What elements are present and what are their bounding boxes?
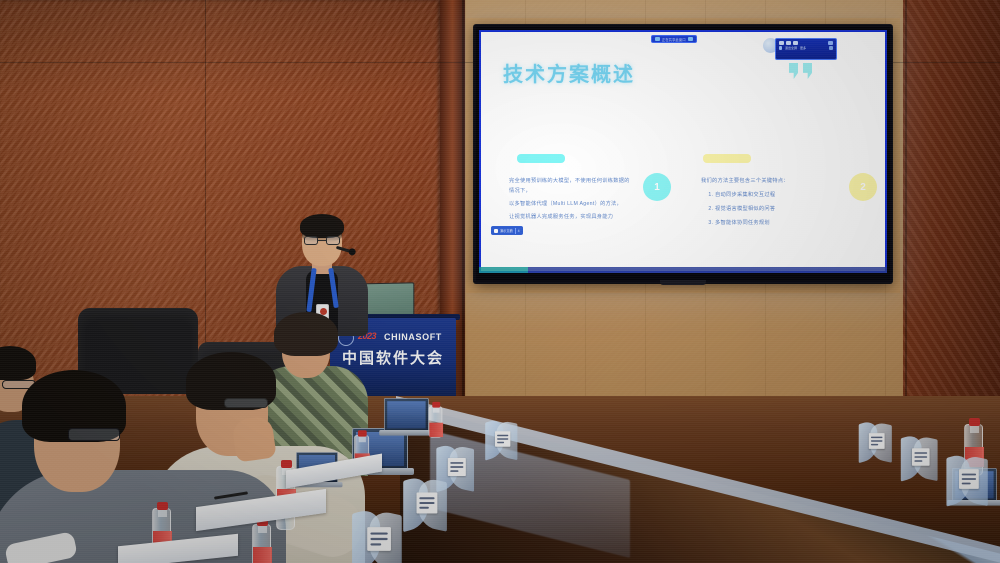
attendee-gray-glasses-icon — [68, 428, 120, 441]
glasses-icon — [304, 236, 340, 245]
placard-card-5 — [869, 433, 885, 449]
left-paragraph-3: 让视觉机器人完成服务任务，实现具身能力 — [509, 212, 633, 222]
bottle-cap-5 — [432, 402, 440, 408]
name-placard-1 — [485, 420, 519, 458]
water-bottle-5 — [429, 406, 443, 438]
more-label[interactable]: 更多 — [800, 46, 806, 50]
display-stand — [660, 280, 706, 285]
placard-card-1 — [495, 431, 510, 446]
sharing-toolbar[interactable]: 正在共享此窗口 — [651, 35, 697, 43]
minimize-icon[interactable] — [779, 41, 784, 45]
attendee-gray-sweater — [6, 352, 276, 563]
feature-item-2: 视觉语言模型相似的问答 — [715, 204, 833, 214]
right-feature-list: 自动同步采集和交互过程 视觉语言模型相似的问答 多智能体协同任务规划 — [715, 190, 833, 228]
slides-icon — [494, 229, 498, 233]
right-badge-number: 2 — [849, 173, 877, 201]
share-icon — [655, 37, 660, 41]
wall-panel-right — [903, 0, 1000, 430]
placard-card-3 — [417, 493, 438, 514]
slide-bottom-strip — [479, 267, 887, 273]
right-accent-bar — [703, 154, 751, 163]
stop-share-icon[interactable] — [688, 37, 693, 41]
restore-icon[interactable] — [786, 41, 791, 45]
close-icon[interactable] — [828, 41, 833, 45]
slide-screen[interactable]: 技术方案概述 正在共享此窗口 退出全屏 更多 — [479, 30, 887, 273]
conference-room-photo: 技术方案概述 正在共享此窗口 退出全屏 更多 — [0, 0, 1000, 563]
wall-display: 技术方案概述 正在共享此窗口 退出全屏 更多 — [474, 25, 892, 283]
placard-card-7 — [959, 469, 979, 489]
laptop-screen-2 — [387, 401, 425, 428]
name-placard-5 — [859, 422, 894, 461]
name-placard-6 — [901, 435, 939, 478]
volume-icon[interactable] — [829, 46, 833, 50]
banner-brand: CHINASOFT — [384, 332, 442, 342]
slide-title: 技术方案概述 — [503, 58, 635, 87]
name-placard-7 — [946, 455, 989, 504]
meeting-window-toolbar[interactable]: 退出全屏 更多 — [775, 38, 837, 60]
bottle-cap-2 — [157, 502, 168, 510]
sharing-toolbar-label: 正在共享此窗口 — [662, 37, 686, 42]
quote-glyph-right — [803, 63, 812, 79]
window-actions-row[interactable]: 退出全屏 更多 — [776, 45, 836, 51]
bottle-label-5 — [429, 423, 443, 437]
slide-badge-label: 演示文稿 — [500, 228, 513, 233]
right-column-text: 我们的方法主要包含三个关键特点： 自动同步采集和交互过程 视觉语言模型相似的问答… — [701, 176, 833, 233]
left-badge-number: 1 — [643, 173, 671, 201]
mic-icon[interactable] — [779, 46, 782, 50]
water-bottle-3 — [252, 524, 271, 563]
feature-item-1: 自动同步采集和交互过程 — [715, 190, 833, 200]
slide-page-badge[interactable]: 演示文稿 4 — [491, 226, 523, 235]
bottle-cap-6 — [969, 418, 980, 426]
quote-mark-decoration — [789, 63, 812, 79]
left-paragraph-2: 以多智能体代理（Multi LLM Agent）的方法， — [509, 199, 633, 209]
bottle-label-3 — [253, 547, 272, 563]
left-paragraph-1: 完全使用预训练的大模型，不使用任何训练数据的情况下， — [509, 176, 633, 196]
quote-glyph-left — [789, 63, 798, 79]
exit-fullscreen-label[interactable]: 退出全屏 — [785, 46, 797, 50]
name-placard-3 — [403, 477, 449, 528]
bottle-cap-1 — [281, 460, 292, 468]
wall-seam-c — [462, 0, 464, 430]
maximize-icon[interactable] — [793, 41, 798, 45]
presenter-hair — [300, 214, 344, 238]
feature-item-3: 多智能体协同任务规划 — [715, 218, 833, 228]
left-column-text: 完全使用预训练的大模型，不使用任何训练数据的情况下， 以多智能体代理（Multi… — [509, 176, 633, 226]
placard-card-6 — [912, 448, 930, 466]
badge-divider — [515, 228, 516, 234]
laptop-base-2 — [379, 430, 433, 436]
left-accent-bar — [517, 154, 565, 163]
right-heading: 我们的方法主要包含三个关键特点： — [701, 176, 833, 186]
placard-card-2 — [448, 458, 466, 476]
laptop-lid-2 — [384, 398, 429, 432]
name-placard-4 — [352, 510, 404, 563]
wall-seam-b — [905, 0, 907, 430]
bottle-cap-4 — [358, 430, 367, 436]
slide-page-number: 4 — [518, 229, 520, 233]
placard-card-4 — [367, 527, 391, 551]
